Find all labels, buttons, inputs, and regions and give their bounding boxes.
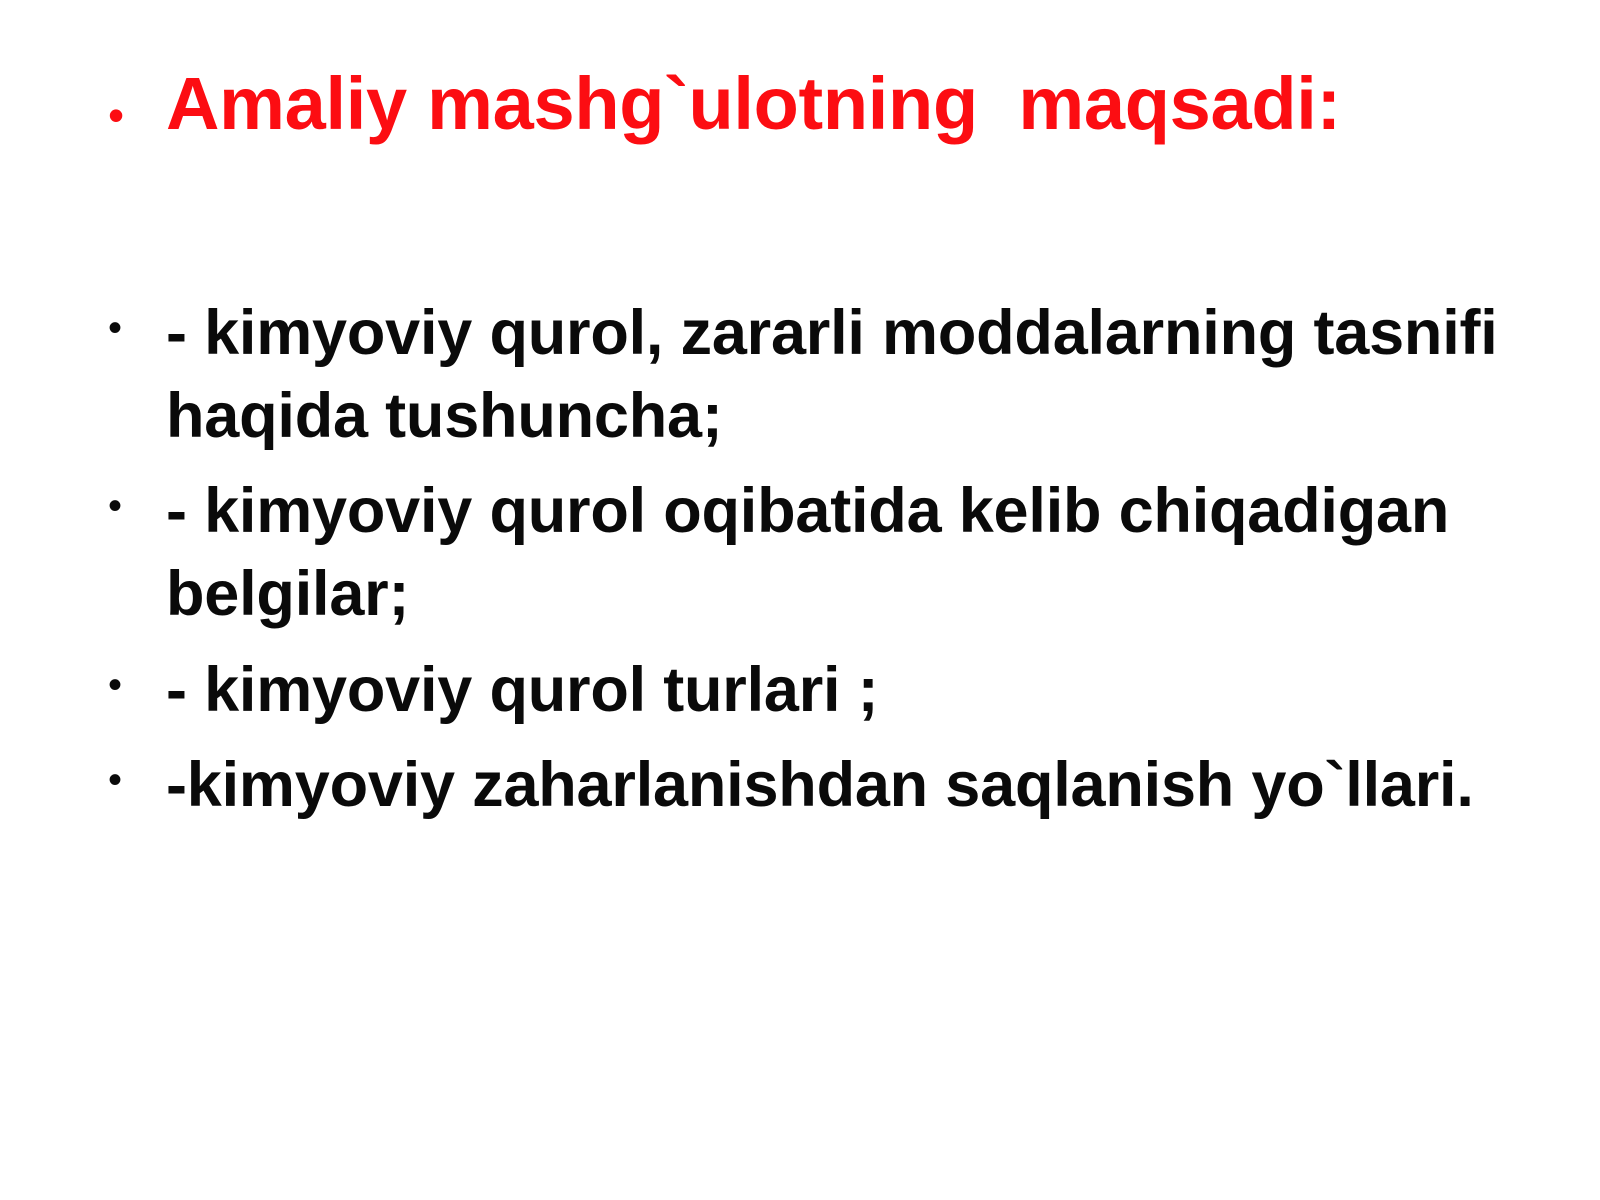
slide-title-bullet-row: • Amaliy mashg`ulotning maqsadi:	[108, 66, 1528, 143]
objectives-list: • - kimyoviy qurol, zararli moddalarning…	[108, 292, 1508, 839]
bullet-point-icon: •	[108, 66, 166, 138]
bullet-point-icon: •	[108, 292, 166, 348]
list-item-label: - kimyoviy qurol turlari ;	[166, 649, 1508, 732]
list-item-label: - kimyoviy qurol oqibatida kelib chiqadi…	[166, 470, 1508, 636]
list-item: • - kimyoviy qurol oqibatida kelib chiqa…	[108, 470, 1508, 636]
list-item: • -kimyoviy zaharlanishdan saqlanish yo`…	[108, 744, 1508, 827]
list-item: • - kimyoviy qurol turlari ;	[108, 649, 1508, 732]
list-item: • - kimyoviy qurol, zararli moddalarning…	[108, 292, 1508, 458]
bullet-point-icon: •	[108, 649, 166, 705]
bullet-point-icon: •	[108, 744, 166, 800]
list-item-label: -kimyoviy zaharlanishdan saqlanish yo`ll…	[166, 744, 1508, 827]
presentation-slide: • Amaliy mashg`ulotning maqsadi: • - kim…	[0, 0, 1600, 1200]
list-item-label: - kimyoviy qurol, zararli moddalarning t…	[166, 292, 1508, 458]
bullet-point-icon: •	[108, 470, 166, 526]
page-title: Amaliy mashg`ulotning maqsadi:	[166, 66, 1528, 143]
